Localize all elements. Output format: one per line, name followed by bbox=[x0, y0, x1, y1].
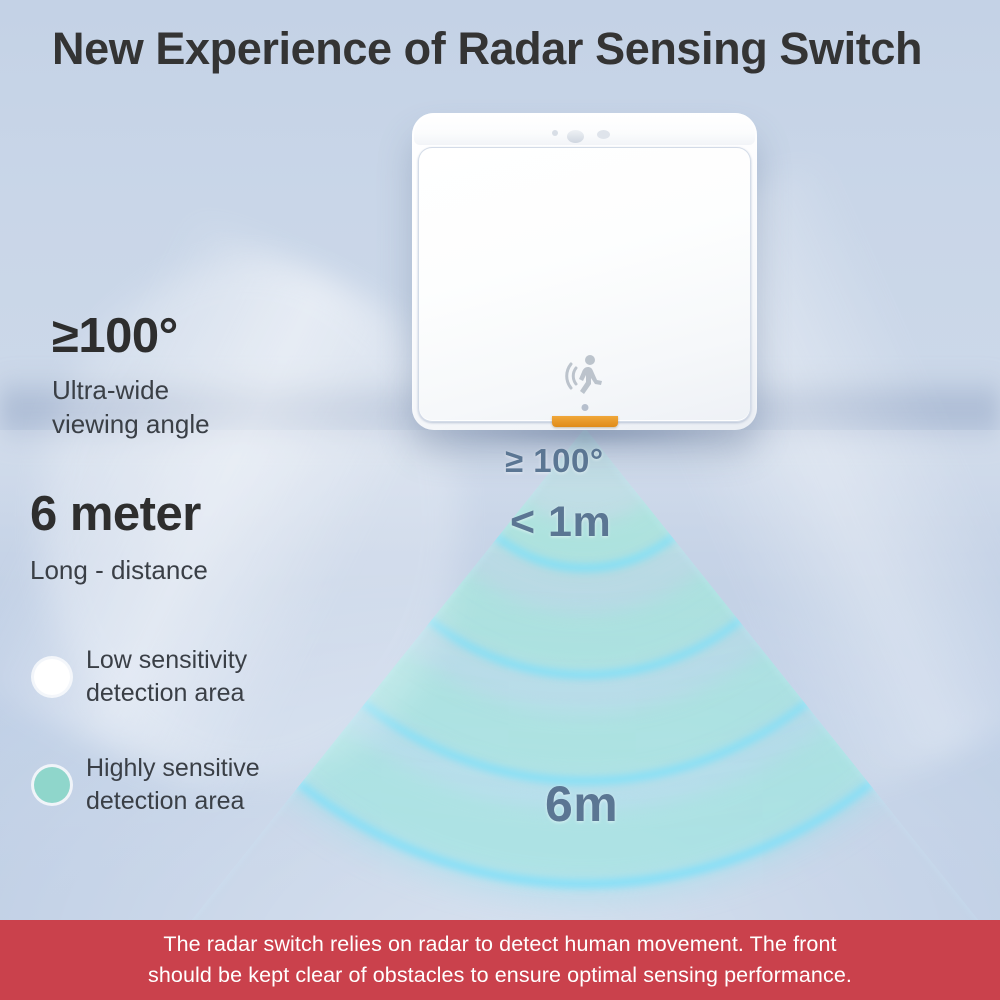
diagram-label-far-range: 6m bbox=[545, 775, 618, 833]
device-front-panel[interactable] bbox=[418, 147, 751, 422]
bottom-notice-line1: The radar switch relies on radar to dete… bbox=[163, 932, 836, 956]
orange-release-tab bbox=[552, 416, 618, 427]
status-led-icon bbox=[581, 404, 588, 411]
legend-dot-low-sensitivity-icon bbox=[34, 659, 70, 695]
spec-viewing-angle: ≥100° Ultra-wide viewing angle bbox=[52, 312, 382, 442]
legend-item-high-sensitivity: Highly sensitive detection area bbox=[34, 752, 260, 817]
spec-viewing-angle-line2: viewing angle bbox=[52, 407, 382, 441]
legend-label-high-sensitivity: Highly sensitive detection area bbox=[86, 752, 260, 817]
legend-high-line1: Highly sensitive bbox=[86, 754, 260, 782]
spec-detection-distance: 6 meter Long - distance bbox=[30, 490, 360, 587]
legend-low-line2: detection area bbox=[86, 679, 244, 707]
product-scene: New Experience of Radar Sensing Switch ≥… bbox=[0, 0, 1000, 920]
device-body bbox=[412, 113, 757, 430]
page-title: New Experience of Radar Sensing Switch bbox=[52, 22, 932, 75]
top-sensor-lens-icon bbox=[567, 130, 584, 143]
legend-low-line1: Low sensitivity bbox=[86, 646, 247, 674]
legend-item-low-sensitivity: Low sensitivity detection area bbox=[34, 644, 247, 709]
top-pinhole-icon bbox=[552, 130, 558, 136]
motion-sensor-icon bbox=[562, 353, 608, 397]
legend-label-low-sensitivity: Low sensitivity detection area bbox=[86, 644, 247, 709]
top-vent-icon bbox=[597, 130, 610, 139]
radar-switch-device bbox=[412, 113, 757, 430]
spec-viewing-angle-description: Ultra-wide viewing angle bbox=[52, 373, 382, 442]
bottom-notice-text: The radar switch relies on radar to dete… bbox=[40, 929, 960, 990]
bottom-notice-banner: The radar switch relies on radar to dete… bbox=[0, 920, 1000, 1000]
legend-high-line2: detection area bbox=[86, 787, 244, 815]
legend-dot-high-sensitivity-icon bbox=[34, 767, 70, 803]
spec-detection-distance-value: 6 meter bbox=[30, 490, 360, 539]
spec-detection-distance-description: Long - distance bbox=[30, 553, 360, 587]
diagram-label-near-range: < 1m bbox=[510, 498, 611, 547]
diagram-label-angle: ≥ 100° bbox=[505, 442, 604, 480]
device-top-bezel bbox=[414, 115, 755, 145]
bottom-notice-line2: should be kept clear of obstacles to ens… bbox=[148, 963, 852, 987]
spec-viewing-angle-line1: Ultra-wide bbox=[52, 373, 382, 407]
spec-viewing-angle-value: ≥100° bbox=[52, 312, 382, 361]
